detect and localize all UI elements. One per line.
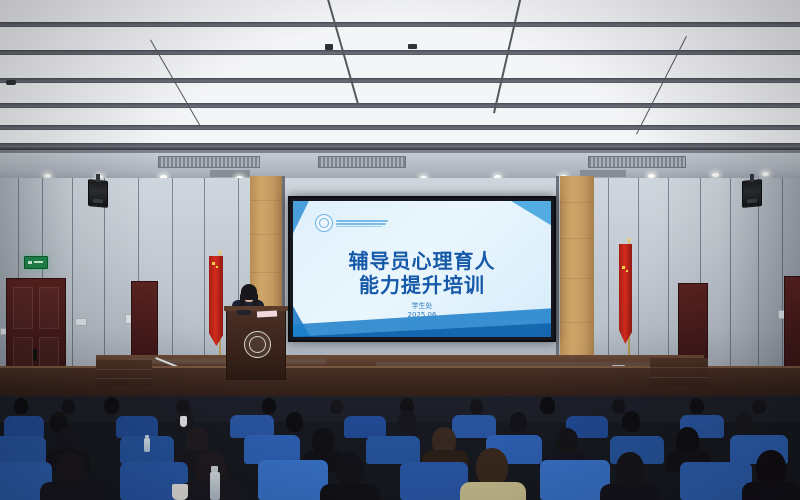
air-vent-left [158, 156, 260, 168]
emergency-exit-sign [24, 256, 48, 269]
lectern-device [237, 310, 251, 315]
presenter-notes [257, 310, 277, 317]
bottle-cap-foreground [211, 466, 218, 472]
ceiling [0, 0, 800, 152]
presentation-slide: 辅导员心理育人 能力提升培训 学生处 2025.06 [293, 201, 551, 337]
lectern [226, 308, 286, 380]
door-handle-left[interactable] [33, 349, 37, 361]
university-emblem [244, 331, 271, 358]
slide-date: 2025.06 [293, 311, 551, 319]
stage-steps-right [650, 358, 708, 386]
ceiling-camera [6, 80, 16, 85]
ceiling-fixture [408, 44, 417, 49]
seal-icon [315, 214, 333, 232]
paper-cup-foreground [172, 484, 188, 500]
bottle-cap [145, 435, 149, 438]
slide-org: 学生处 [293, 301, 551, 311]
wood-column-right [560, 176, 594, 368]
wall-speaker-right [742, 179, 762, 208]
slide-title-line2: 能力提升培训 [293, 269, 551, 298]
water-bottle-foreground [210, 472, 220, 500]
audience-seating: 7 3 [0, 396, 800, 500]
stage-steps-left [96, 360, 152, 386]
paper-cup [180, 416, 187, 427]
projection-screen: 辅导员心理育人 能力提升培训 学生处 2025.06 [288, 196, 556, 342]
wall-socket-left[interactable] [75, 318, 87, 326]
logo-wordmark [336, 220, 388, 227]
ceiling-projector-mount [325, 44, 333, 50]
university-seal-logo [315, 214, 388, 232]
auditorium-photo: 辅导员心理育人 能力提升培训 学生处 2025.06 [0, 0, 800, 500]
water-bottle [144, 438, 150, 452]
air-vent-center [318, 156, 406, 168]
air-vent-right [588, 156, 686, 168]
wall-speaker-left [88, 179, 108, 208]
